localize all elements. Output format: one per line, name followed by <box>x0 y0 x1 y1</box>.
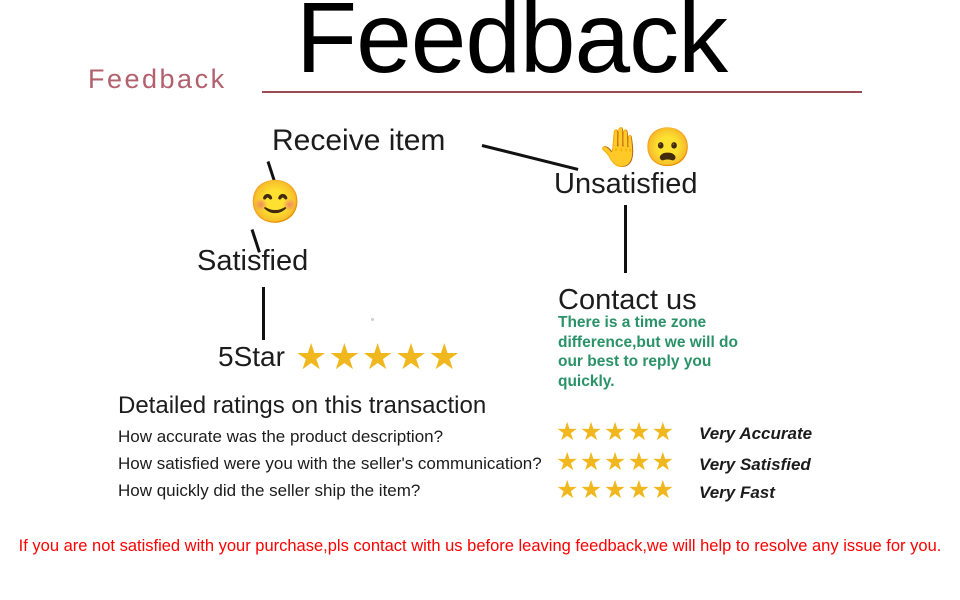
rating-question-1: How accurate was the product description… <box>118 427 443 447</box>
frowning-face-icon: 😦 <box>644 127 691 169</box>
raised-hand-icon: 🤚 <box>597 127 644 169</box>
detailed-ratings-heading: Detailed ratings on this transaction <box>118 392 486 420</box>
connector-receive-to-unsatisfied <box>482 144 579 171</box>
feedback-banner: Feedback Feedback Receive item 😊 Satisfi… <box>0 0 960 600</box>
five-star-label: 5Star <box>218 341 285 373</box>
flow-node-satisfied: Satisfied <box>197 245 308 278</box>
page-title: Feedback <box>296 0 727 88</box>
rating-stars-1: ★★★★★ <box>556 420 676 445</box>
connector-unsatisfied-to-contact <box>624 205 627 273</box>
rating-value-2: Very Satisfied <box>699 455 811 475</box>
frowning-face-with-hand-emoji: 🤚😦 <box>597 129 692 167</box>
footer-warning-text: If you are not satisfied with your purch… <box>0 537 960 556</box>
rating-stars-2: ★★★★★ <box>556 450 676 475</box>
rating-stars-3: ★★★★★ <box>556 478 676 503</box>
flow-node-unsatisfied: Unsatisfied <box>554 168 697 201</box>
flow-node-receive-item: Receive item <box>272 124 445 158</box>
smiling-face-emoji: 😊 <box>249 181 301 223</box>
rating-value-1: Very Accurate <box>699 424 812 444</box>
rating-value-3: Very Fast <box>699 483 775 503</box>
page-subtitle: Feedback <box>88 64 227 95</box>
rating-question-3: How quickly did the seller ship the item… <box>118 481 420 501</box>
five-star-rating-stars: ★★★★★ <box>295 339 461 375</box>
contact-us-note: There is a time zone difference,but we w… <box>558 313 758 391</box>
connector-satisfied-to-fivestar <box>262 287 265 340</box>
rating-question-2: How satisfied were you with the seller's… <box>118 454 542 474</box>
scan-artifact-dot <box>371 318 374 321</box>
